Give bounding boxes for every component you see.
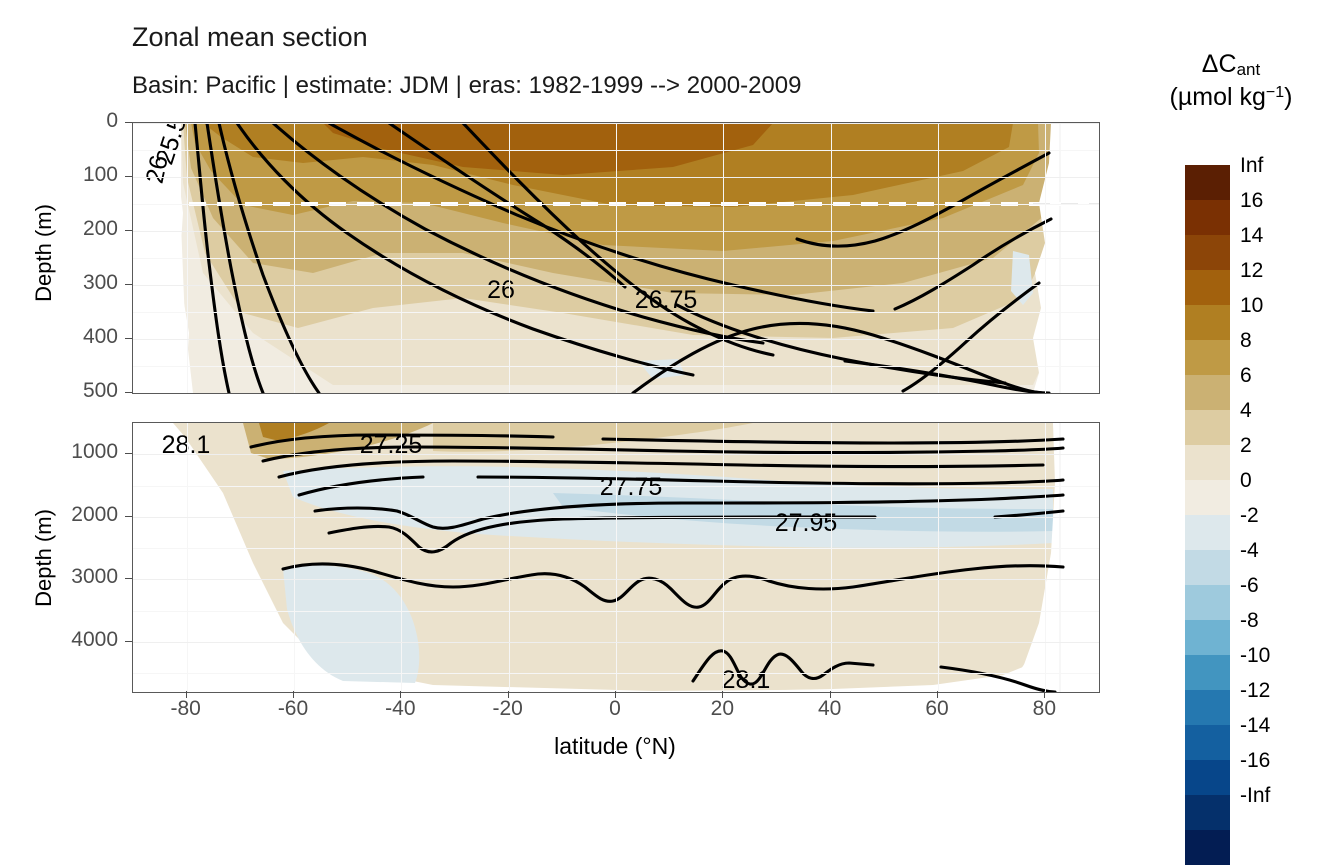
colorbar-tick-label: -Inf: [1236, 778, 1336, 813]
colorbar-tick-label: -10: [1236, 638, 1336, 673]
colorbar-tick-label: 6: [1236, 358, 1336, 393]
x-tick-label: 40: [795, 697, 865, 721]
colorbar-tick-label: 0: [1236, 463, 1336, 498]
gridline-vertical: [831, 423, 832, 692]
colorbar-tick-label: 16: [1236, 183, 1336, 218]
y-tick-label: 500: [32, 379, 118, 403]
colorbar-swatch: [1185, 620, 1230, 655]
colorbar-tick-label: -16: [1236, 743, 1336, 778]
colorbar: [1185, 165, 1230, 865]
gridline-vertical: [294, 423, 295, 692]
gridline-vertical: [509, 423, 510, 692]
colorbar-swatch: [1185, 270, 1230, 305]
gridline-horizontal-minor: [133, 312, 1099, 313]
colorbar-swatch: [1185, 795, 1230, 830]
legend-title-units-post: ): [1284, 83, 1292, 111]
x-axis-title: latitude (°N): [132, 733, 1098, 760]
y-tick-label: 2000: [32, 503, 118, 527]
y-tick-mark: [125, 176, 132, 177]
colorbar-tick-label: -12: [1236, 673, 1336, 708]
legend: ΔCant (µmol kg−1) Inf1614121086420-2-4-6…: [1118, 20, 1344, 780]
gridline-horizontal-minor: [133, 204, 1099, 205]
colorbar-swatch: [1185, 165, 1230, 200]
colorbar-swatch: [1185, 725, 1230, 760]
x-tick-label: -20: [473, 697, 543, 721]
x-tick-mark: [722, 691, 723, 698]
colorbar-swatch: [1185, 200, 1230, 235]
y-tick-mark: [125, 578, 132, 579]
colorbar-swatch: [1185, 585, 1230, 620]
y-tick-label: 200: [32, 217, 118, 241]
x-tick-mark: [1044, 691, 1045, 698]
colorbar-swatch: [1185, 480, 1230, 515]
gridline-horizontal-minor: [133, 611, 1099, 612]
colorbar-tick-label: 8: [1236, 323, 1336, 358]
x-tick-mark: [293, 691, 294, 698]
y-tick-label: 400: [32, 325, 118, 349]
x-tick-mark: [508, 691, 509, 698]
gridline-horizontal-minor: [133, 150, 1099, 151]
gridline-vertical: [616, 423, 617, 692]
y-tick-label: 0: [32, 109, 118, 133]
gridline-vertical: [1045, 423, 1046, 692]
lower-section-panel: 28.1 27.25 27.75 27.95 28.1: [132, 422, 1100, 693]
gridline-horizontal-minor: [133, 486, 1099, 487]
colorbar-swatch: [1185, 550, 1230, 585]
gridline-horizontal: [133, 579, 1099, 580]
colorbar-swatch: [1185, 690, 1230, 725]
upper-section-panel: 26 26.75 25.5 26: [132, 122, 1100, 394]
x-tick-mark: [937, 691, 938, 698]
chart-root: Zonal mean section Basin: Pacific | esti…: [0, 0, 1344, 806]
y-tick-mark: [125, 338, 132, 339]
x-tick-label: 60: [902, 697, 972, 721]
legend-title: ΔCant (µmol kg−1): [1118, 48, 1344, 113]
gridline-horizontal: [133, 642, 1099, 643]
colorbar-tick-label: -6: [1236, 568, 1336, 603]
gridline-horizontal: [133, 454, 1099, 455]
contour-label-2775: 27.75: [600, 473, 663, 501]
y-tick-label: 1000: [32, 440, 118, 464]
colorbar-swatch: [1185, 515, 1230, 550]
y-tick-mark: [125, 284, 132, 285]
colorbar-tick-label: 4: [1236, 393, 1336, 428]
y-tick-mark: [125, 453, 132, 454]
colorbar-swatch: [1185, 305, 1230, 340]
x-tick-mark: [186, 691, 187, 698]
colorbar-tick-label: 10: [1236, 288, 1336, 323]
y-tick-mark: [125, 122, 132, 123]
x-tick-label: -60: [258, 697, 328, 721]
legend-title-units-pre: (µmol kg: [1170, 83, 1266, 111]
colorbar-swatch: [1185, 760, 1230, 795]
y-tick-mark: [125, 641, 132, 642]
contour-label-2675: 26.75: [635, 286, 698, 314]
gridline-horizontal-minor: [133, 673, 1099, 674]
colorbar-swatch: [1185, 445, 1230, 480]
colorbar-tick-label: -4: [1236, 533, 1336, 568]
x-tick-label: 0: [580, 697, 650, 721]
colorbar-tick-label: -8: [1236, 603, 1336, 638]
gridline-horizontal: [133, 339, 1099, 340]
plot-subtitle: Basin: Pacific | estimate: JDM | eras: 1…: [132, 72, 801, 100]
contour-label-26: 26: [487, 276, 515, 304]
gridline-horizontal: [133, 517, 1099, 518]
y-tick-mark: [125, 516, 132, 517]
gridline-vertical: [723, 423, 724, 692]
x-tick-label: -40: [365, 697, 435, 721]
gridline-horizontal: [133, 285, 1099, 286]
contour-label-26-south: 26: [141, 153, 174, 186]
y-axis-title-upper: Depth (m): [31, 183, 57, 323]
colorbar-swatch: [1185, 340, 1230, 375]
colorbar-swatch: [1185, 235, 1230, 270]
colorbar-tick-label: -14: [1236, 708, 1336, 743]
x-tick-mark: [615, 691, 616, 698]
y-tick-label: 100: [32, 163, 118, 187]
gridline-vertical: [401, 423, 402, 692]
gridline-horizontal: [133, 177, 1099, 178]
x-tick-mark: [830, 691, 831, 698]
gridline-horizontal-minor: [133, 366, 1099, 367]
colorbar-swatch: [1185, 410, 1230, 445]
page-title: Zonal mean section: [132, 22, 368, 53]
colorbar-tick-label: 12: [1236, 253, 1336, 288]
y-tick-mark: [125, 230, 132, 231]
colorbar-swatch: [1185, 375, 1230, 410]
x-tick-label: 20: [687, 697, 757, 721]
legend-title-units-exponent: −1: [1266, 84, 1284, 101]
contour-label-281-bottom: 28.1: [722, 666, 771, 692]
legend-title-delta-cant: ΔC: [1202, 50, 1237, 78]
colorbar-swatch: [1185, 830, 1230, 865]
y-tick-mark: [125, 392, 132, 393]
x-tick-mark: [400, 691, 401, 698]
y-tick-label: 4000: [32, 628, 118, 652]
legend-title-subscript: ant: [1237, 60, 1261, 79]
colorbar-tick-label: 14: [1236, 218, 1336, 253]
colorbar-tick-label: 2: [1236, 428, 1336, 463]
y-tick-label: 3000: [32, 565, 118, 589]
x-tick-label: 80: [1009, 697, 1079, 721]
gridline-vertical: [187, 423, 188, 692]
gridline-horizontal-minor: [133, 548, 1099, 549]
x-tick-label: -80: [151, 697, 221, 721]
gridline-vertical: [938, 423, 939, 692]
gridline-horizontal: [133, 123, 1099, 124]
y-tick-label: 300: [32, 271, 118, 295]
contour-label-2795: 27.95: [775, 509, 838, 537]
gridline-horizontal: [133, 231, 1099, 232]
colorbar-labels: Inf1614121086420-2-4-6-8-10-12-14-16-Inf: [1236, 148, 1336, 813]
gridline-horizontal-minor: [133, 258, 1099, 259]
colorbar-tick-label: -2: [1236, 498, 1336, 533]
colorbar-tick-label: Inf: [1236, 148, 1336, 183]
colorbar-swatch: [1185, 655, 1230, 690]
